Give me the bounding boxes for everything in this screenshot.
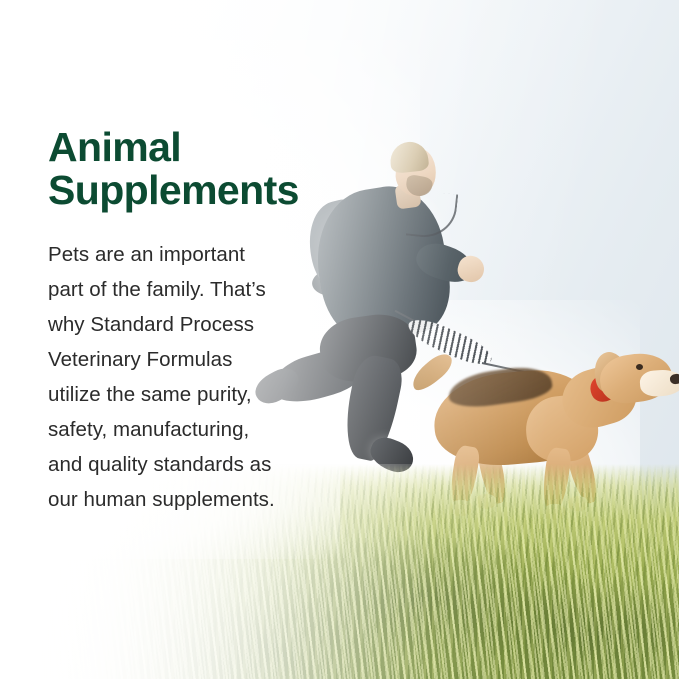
body-line: utilize the same purity,	[48, 377, 348, 412]
body-line: Pets are an important	[48, 237, 348, 272]
body-line: Veterinary Formulas	[48, 342, 348, 377]
page-title: Animal Supplements	[48, 126, 348, 211]
copy-block: Animal Supplements Pets are an important…	[48, 126, 348, 517]
body-line: why Standard Process	[48, 307, 348, 342]
earbud-cord	[406, 190, 459, 241]
body-line: safety, manufacturing,	[48, 412, 348, 447]
marketing-banner: Animal Supplements Pets are an important…	[0, 0, 679, 679]
body-line: and quality standards as	[48, 447, 348, 482]
headline-line-1: Animal	[48, 124, 181, 170]
dog-eye	[636, 364, 643, 370]
runner-hair	[389, 140, 430, 174]
body-copy: Pets are an important part of the family…	[48, 237, 348, 517]
body-line: part of the family. That’s	[48, 272, 348, 307]
body-line: our human supplements.	[48, 482, 348, 517]
headline-line-2: Supplements	[48, 169, 348, 212]
dog-nose	[670, 373, 679, 384]
